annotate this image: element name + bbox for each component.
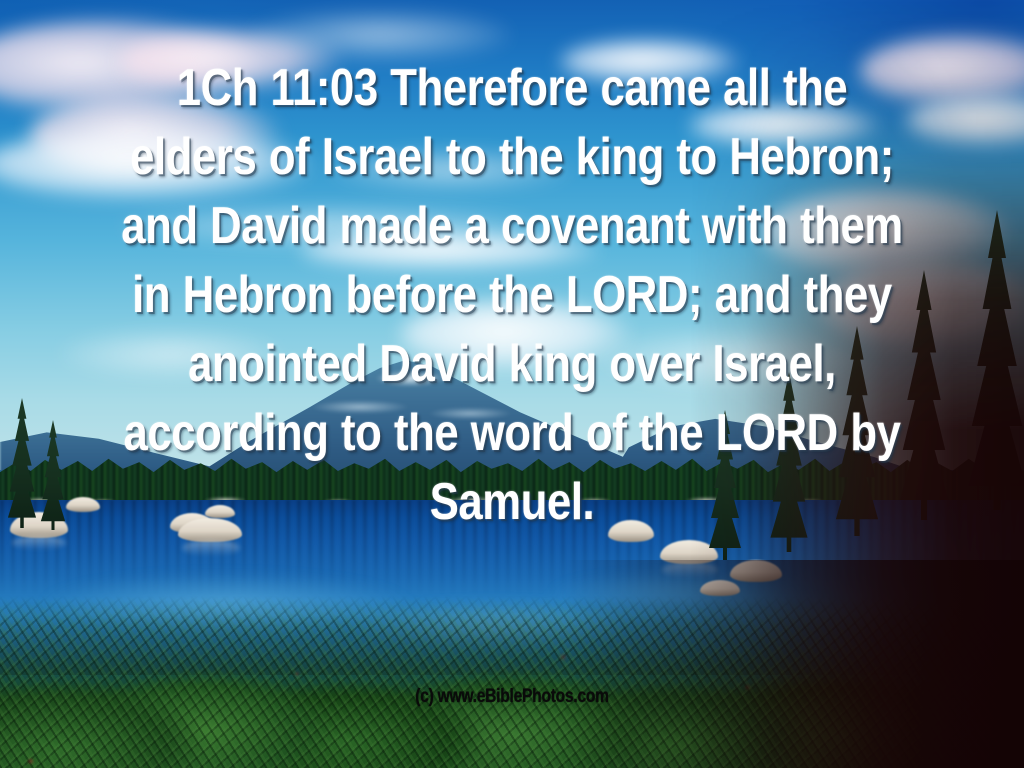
lake-boulder [700,580,740,596]
lake-boulder-reflection [662,562,718,578]
lake-boulder [730,560,782,582]
verse-image-canvas: 1Ch 11:03 Therefore came all the elders … [0,0,1024,768]
foreground-shrubs [0,600,1024,768]
cloud-shape [250,10,510,60]
conifer-tree [34,420,72,530]
lake-boulder-reflection [12,536,66,550]
lake-boulder [10,512,68,538]
conifer-tree [952,210,1024,510]
lake-boulder-reflection [182,540,240,556]
conifer-tree [0,398,44,528]
foreground-leaf-texture [0,596,1024,768]
watermark-credit: (c) www.eBiblePhotos.com [92,686,932,708]
foreground-berry-accents [0,600,1024,768]
lake-shimmer [0,560,1024,670]
lake-boulder [660,540,718,564]
verse-text: 1Ch 11:03 Therefore came all the elders … [82,54,942,537]
bottom-right-vignette [0,560,1024,768]
